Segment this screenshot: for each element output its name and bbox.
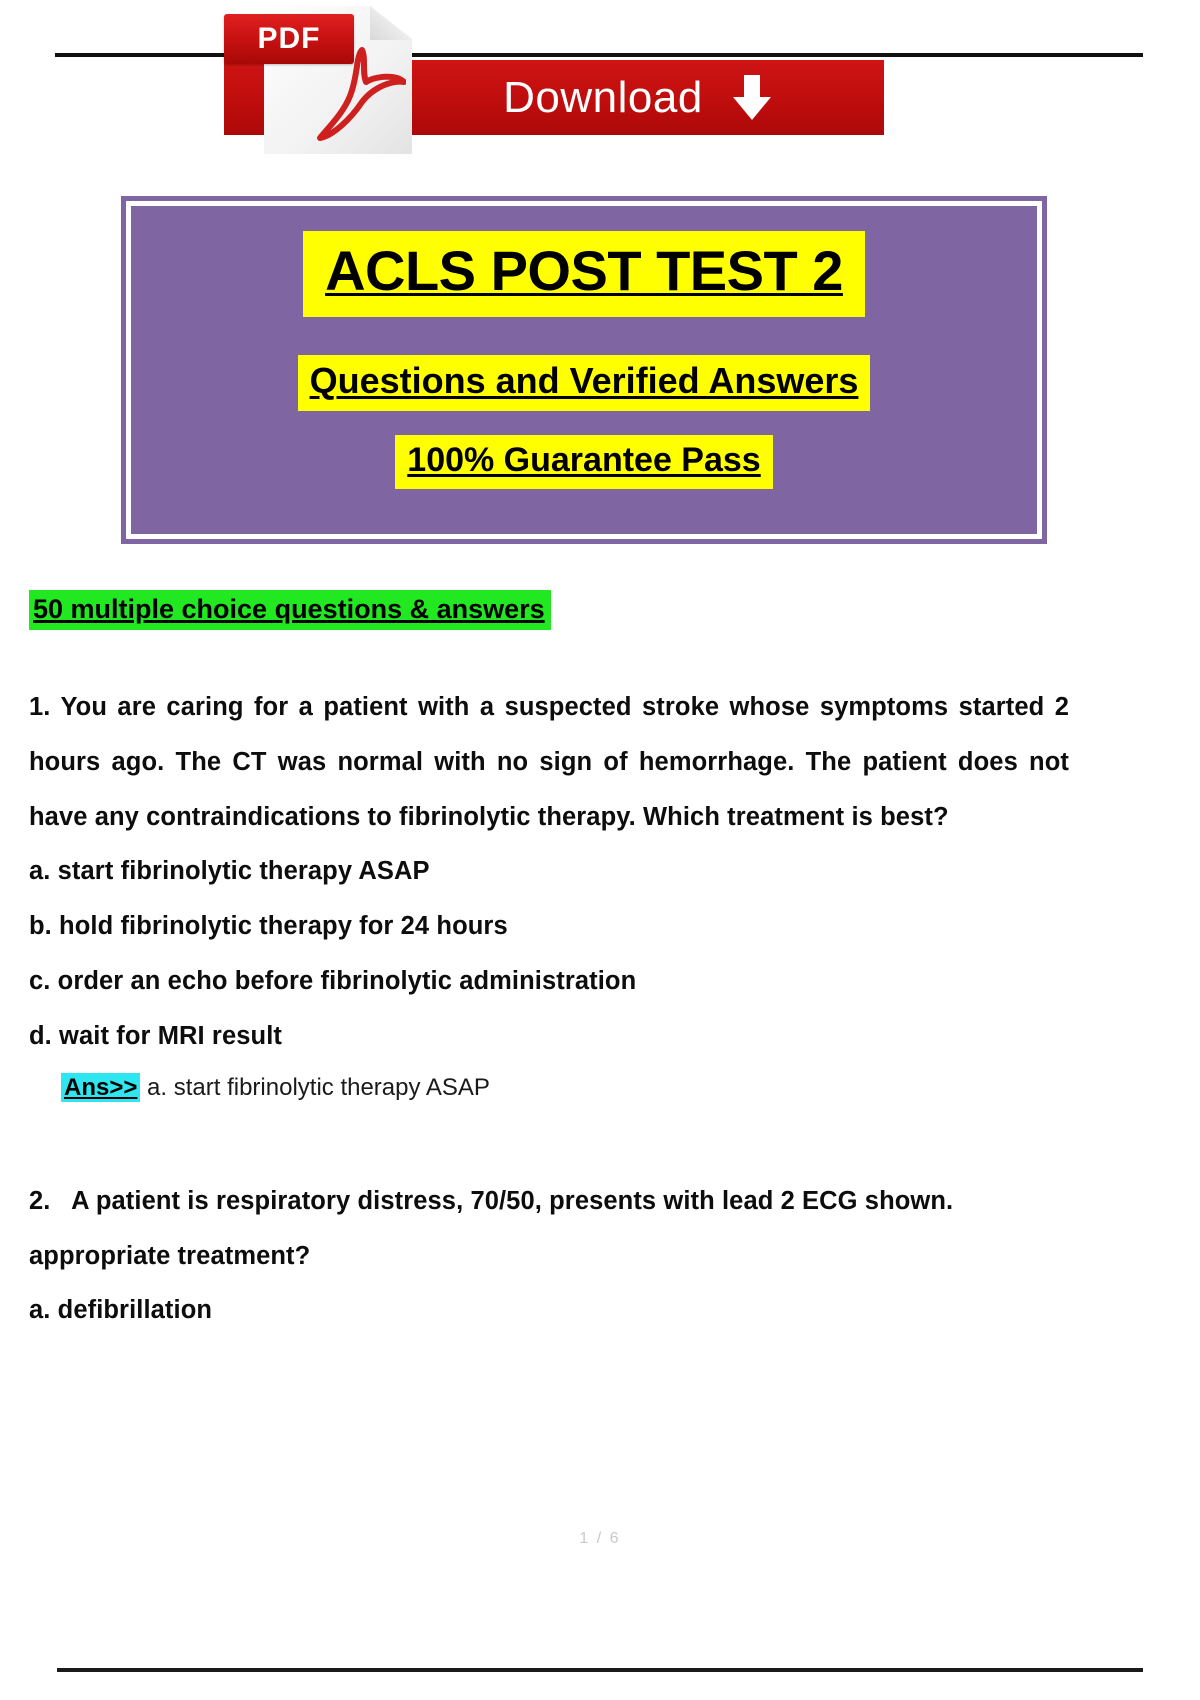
pdf-badge: PDF <box>224 14 354 64</box>
option-d[interactable]: d. wait for MRI result <box>29 1009 1069 1064</box>
top-divider-rule <box>55 53 1143 57</box>
question-block: 1. You are caring for a patient with a s… <box>29 680 1069 1112</box>
section-heading: 50 multiple choice questions & answers <box>29 590 551 630</box>
download-banner: Download PDF <box>0 0 1200 172</box>
page-indicator: 1 / 6 <box>0 1530 1200 1548</box>
pdf-badge-label: PDF <box>258 22 321 56</box>
title-panel: ACLS POST TEST 2 Questions and Verified … <box>121 196 1047 544</box>
option-a[interactable]: a. defibrillation <box>29 1283 1069 1338</box>
document-body: 50 multiple choice questions & answers 1… <box>29 590 1069 1338</box>
answer-text: a. start fibrinolytic therapy ASAP <box>147 1074 490 1101</box>
title-panel-inner: ACLS POST TEST 2 Questions and Verified … <box>126 201 1042 539</box>
option-a[interactable]: a. start fibrinolytic therapy ASAP <box>29 844 1069 899</box>
question-number: 1. <box>29 693 50 721</box>
pdf-file-icon: PDF <box>264 6 412 154</box>
question-prompt: 2. A patient is respiratory distress, 70… <box>29 1174 1069 1284</box>
answer-tag: Ans>> <box>61 1073 140 1102</box>
answer-line: Ans>> a. start fibrinolytic therapy ASAP <box>61 1064 1069 1112</box>
question-prompt: 1. You are caring for a patient with a s… <box>29 680 1069 844</box>
page-subtitle: Questions and Verified Answers <box>298 355 871 411</box>
question-text: A patient is respiratory distress, 70/50… <box>29 1187 953 1270</box>
option-b[interactable]: b. hold fibrinolytic therapy for 24 hour… <box>29 899 1069 954</box>
question-block: 2. A patient is respiratory distress, 70… <box>29 1174 1069 1338</box>
question-number: 2. <box>29 1187 50 1215</box>
bottom-divider-rule <box>57 1668 1143 1672</box>
page-title: ACLS POST TEST 2 <box>303 231 865 317</box>
page-guarantee-text: 100% Guarantee Pass <box>395 435 772 489</box>
option-c[interactable]: c. order an echo before fibrinolytic adm… <box>29 954 1069 1009</box>
question-text: You are caring for a patient with a susp… <box>29 693 1069 831</box>
download-arrow-icon <box>729 75 775 121</box>
download-button-label: Download <box>503 73 703 123</box>
